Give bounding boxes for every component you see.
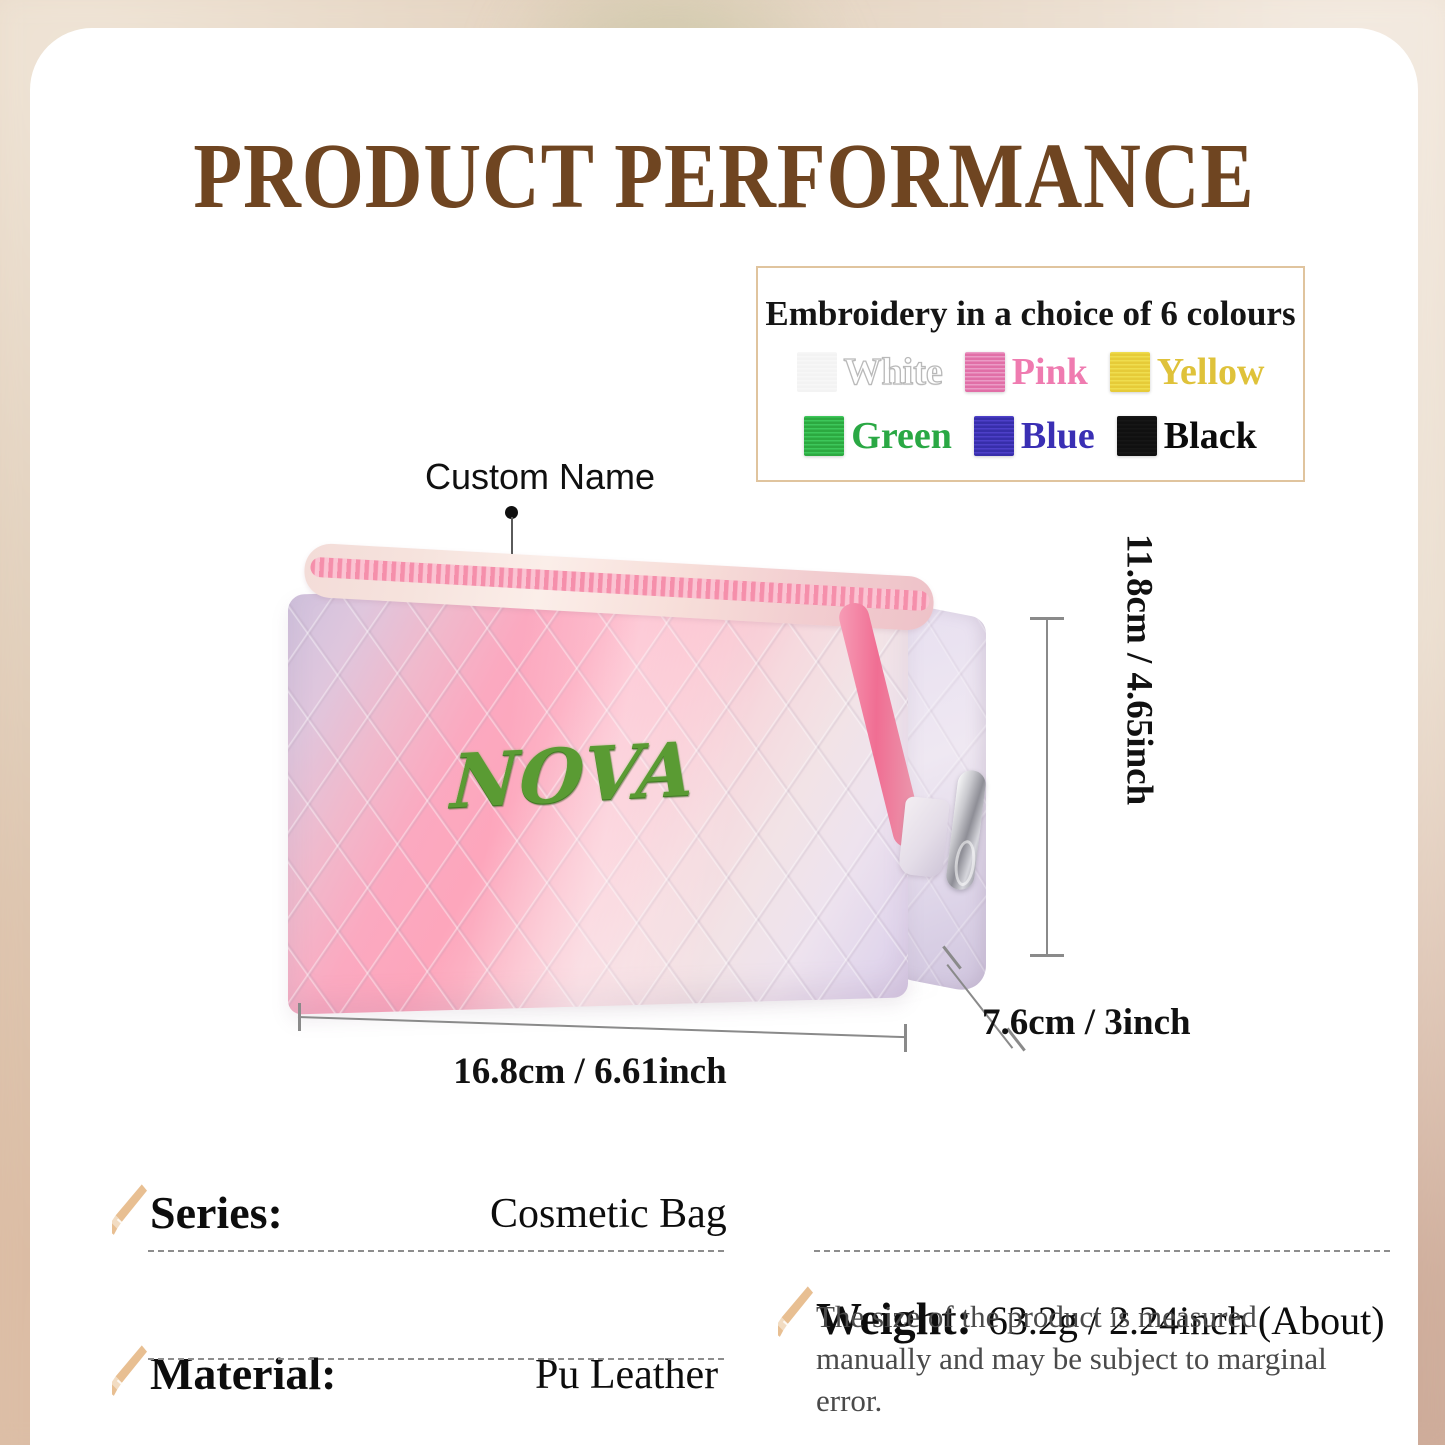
height-dimension-cap-bottom bbox=[1030, 954, 1064, 957]
embroidery-panel-heading: Embroidery in a choice of 6 colours bbox=[758, 294, 1303, 334]
color-label-green: Green bbox=[851, 417, 952, 455]
color-label-white: White bbox=[844, 353, 943, 391]
height-dimension-cap-top bbox=[1030, 617, 1064, 620]
embroidery-color-white[interactable]: White bbox=[789, 352, 951, 392]
spec-row-series: Series: Cosmetic Bag bbox=[150, 1186, 1418, 1239]
color-label-pink: Pink bbox=[1012, 353, 1088, 391]
product-info-card: PRODUCT PERFORMANCE Embroidery in a choi… bbox=[30, 28, 1418, 1445]
color-label-black: Black bbox=[1164, 417, 1257, 455]
width-dimension-cap-left bbox=[298, 1003, 301, 1031]
custom-name-callout-label: Custom Name bbox=[420, 456, 660, 498]
makeup-brush-icon bbox=[112, 1341, 148, 1403]
depth-dimension-label: 7.6cm / 3inch bbox=[982, 1001, 1191, 1044]
embroidered-name-text: NOVA bbox=[449, 726, 697, 825]
height-dimension-label: 11.8cm / 4.65inch bbox=[1118, 525, 1161, 815]
spec-value-series: Cosmetic Bag bbox=[490, 1190, 727, 1238]
spec-divider-weight bbox=[814, 1250, 1390, 1252]
embroidery-color-blue[interactable]: Blue bbox=[966, 416, 1103, 456]
width-dimension-cap-right bbox=[904, 1024, 907, 1052]
product-image-cosmetic-bag: NOVA bbox=[266, 548, 1036, 1048]
embroidery-color-green[interactable]: Green bbox=[796, 416, 960, 456]
color-swatch-green bbox=[804, 416, 844, 456]
spec-divider-series bbox=[148, 1250, 724, 1252]
embroidery-color-row-1: White Pink Yellow bbox=[758, 352, 1303, 392]
page-title: PRODUCT PERFORMANCE bbox=[127, 123, 1321, 230]
zipper-pull-tab bbox=[898, 796, 950, 878]
color-swatch-black bbox=[1117, 416, 1157, 456]
width-dimension-label: 16.8cm / 6.61inch bbox=[330, 1050, 850, 1093]
color-swatch-yellow bbox=[1110, 352, 1150, 392]
makeup-brush-icon bbox=[112, 1180, 148, 1242]
color-label-blue: Blue bbox=[1021, 417, 1095, 455]
spec-label-series: Series: bbox=[150, 1186, 283, 1239]
embroidery-color-pink[interactable]: Pink bbox=[957, 352, 1096, 392]
color-swatch-pink bbox=[965, 352, 1005, 392]
makeup-brush-icon bbox=[778, 1282, 814, 1344]
embroidery-color-row-2: Green Blue Black bbox=[758, 416, 1303, 456]
spec-label-material: Material: bbox=[150, 1347, 336, 1400]
measurement-disclaimer: The size of the product is measured manu… bbox=[816, 1296, 1336, 1422]
color-swatch-white bbox=[797, 352, 837, 392]
embroidery-color-black[interactable]: Black bbox=[1109, 416, 1265, 456]
color-label-yellow: Yellow bbox=[1157, 353, 1265, 391]
spec-divider-material bbox=[148, 1358, 724, 1360]
color-swatch-blue bbox=[974, 416, 1014, 456]
embroidery-color-yellow[interactable]: Yellow bbox=[1102, 352, 1273, 392]
height-dimension-line bbox=[1046, 618, 1048, 956]
embroidery-color-panel: Embroidery in a choice of 6 colours Whit… bbox=[756, 266, 1305, 482]
